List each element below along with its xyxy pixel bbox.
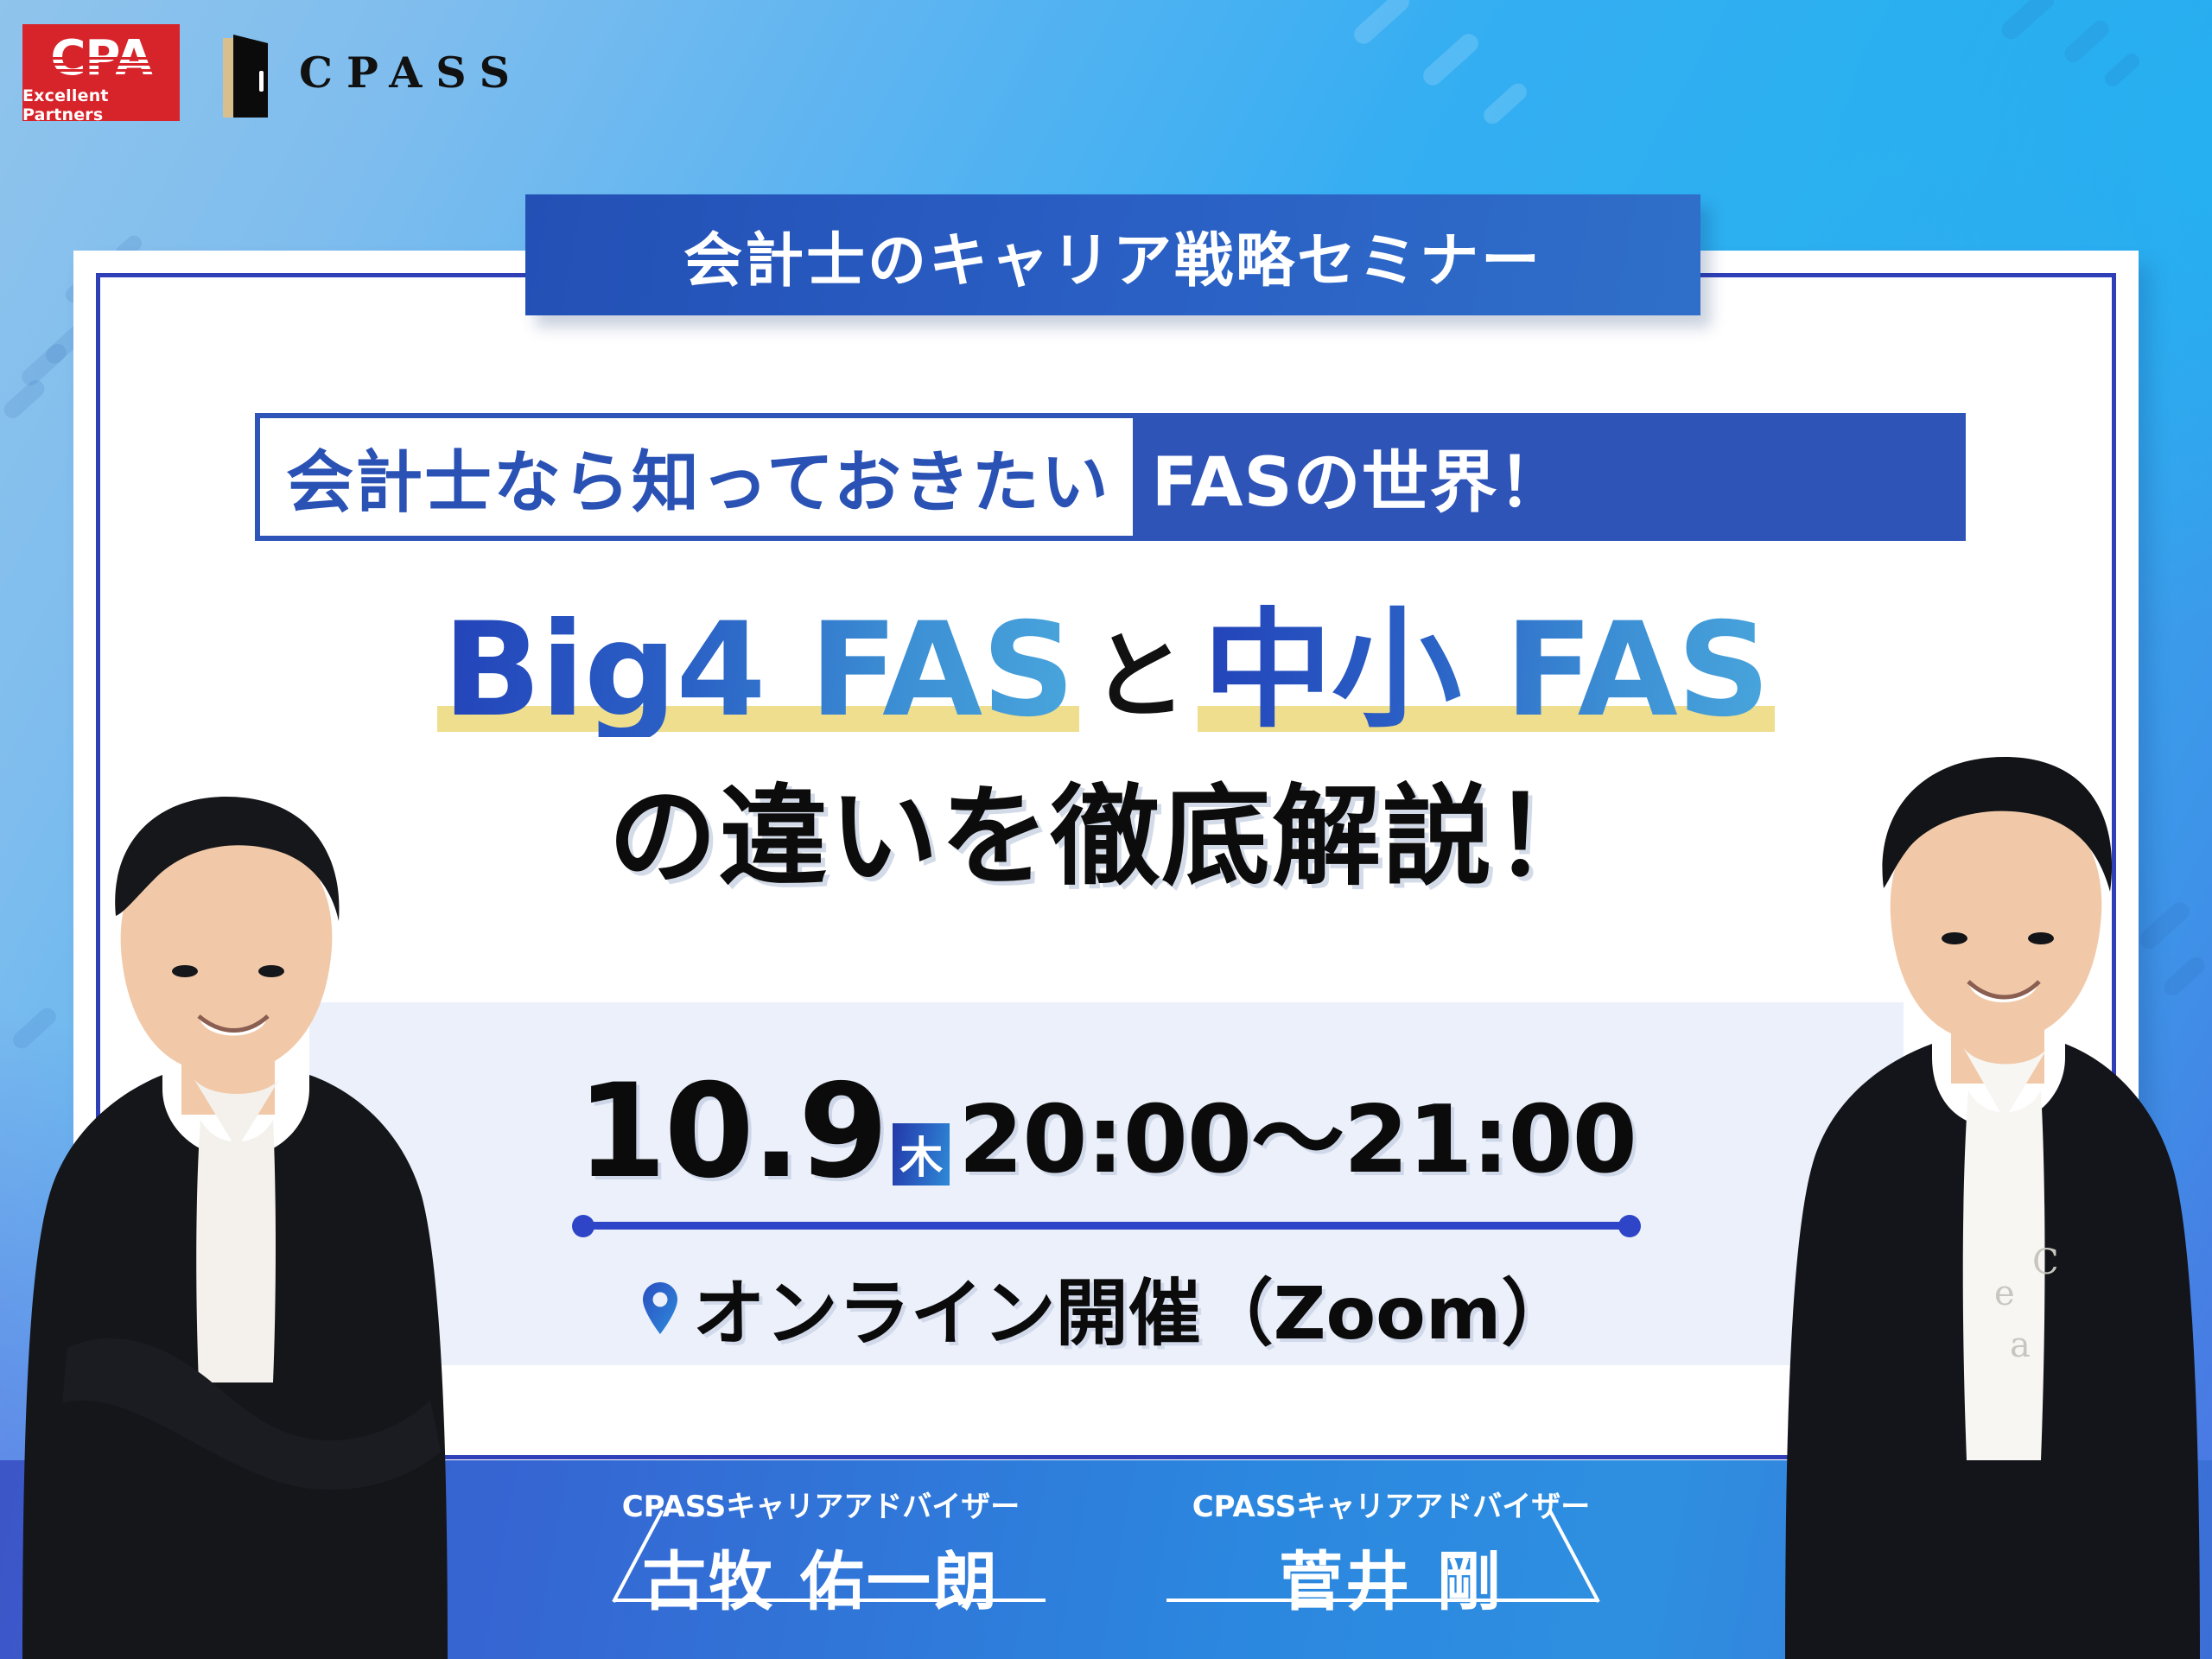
svg-text:e: e <box>1994 1274 2015 1313</box>
door-icon <box>219 28 273 118</box>
speaker-role: CPASSキャリアアドバイザー <box>536 1483 1106 1525</box>
cpass-logo: CPASS <box>219 28 524 118</box>
subtitle-bar: 会計士なら知っておきたい FASの世界！ <box>255 413 1966 541</box>
location-pin-icon <box>639 1281 681 1336</box>
divider-rule <box>577 1222 1636 1230</box>
cpa-logo-tagline: Excellent Partners <box>22 86 180 121</box>
event-details-panel: 10.9 木 20:00〜21:00 オンライン開催（Zoom） <box>309 1002 1904 1365</box>
headline-highlight-2: 中小 FAS <box>1198 605 1775 737</box>
speaker-rule <box>613 1599 1046 1602</box>
speaker-rule <box>1166 1599 1599 1602</box>
speaker-name: 古牧 佑一朗 <box>536 1530 1106 1623</box>
day-of-week-badge: 木 <box>893 1123 950 1185</box>
logo-bar: CPA Excellent Partners CPASS <box>22 24 524 121</box>
subtitle-part-blue: FASの世界！ <box>1133 418 1961 536</box>
seminar-banner-text: 会計士のキャリア戦略セミナー <box>683 213 1542 298</box>
headline-highlight-1: Big4 FAS <box>437 605 1079 737</box>
event-date: 10.9 <box>576 1067 886 1197</box>
speaker-role: CPASSキャリアアドバイザー <box>1106 1483 1676 1525</box>
speaker-card-2: CPASSキャリアアドバイザー 菅井 剛 <box>1106 1460 1676 1623</box>
event-time: 20:00〜21:00 <box>958 1065 1637 1199</box>
presenter-photo-right: e C a <box>1719 700 2203 1659</box>
subtitle-part-white: 会計士なら知っておきたい <box>260 418 1133 536</box>
event-venue: オンライン開催（Zoom） <box>693 1255 1574 1360</box>
seminar-banner: 会計士のキャリア戦略セミナー <box>525 194 1700 315</box>
headline-conjunction: と <box>1079 621 1198 732</box>
cpa-logo: CPA Excellent Partners <box>22 24 180 121</box>
svg-text:a: a <box>2010 1325 2031 1365</box>
event-date-row: 10.9 木 20:00〜21:00 <box>309 1065 1904 1199</box>
cpass-wordmark: CPASS <box>299 48 524 98</box>
svg-text:C: C <box>2032 1243 2059 1282</box>
event-venue-row: オンライン開催（Zoom） <box>309 1255 1904 1360</box>
speaker-card-1: CPASSキャリアアドバイザー 古牧 佑一朗 <box>536 1460 1106 1623</box>
speaker-name: 菅井 剛 <box>1106 1530 1676 1623</box>
presenter-photo-left <box>16 743 499 1659</box>
cpa-logo-mark: CPA <box>50 35 151 82</box>
